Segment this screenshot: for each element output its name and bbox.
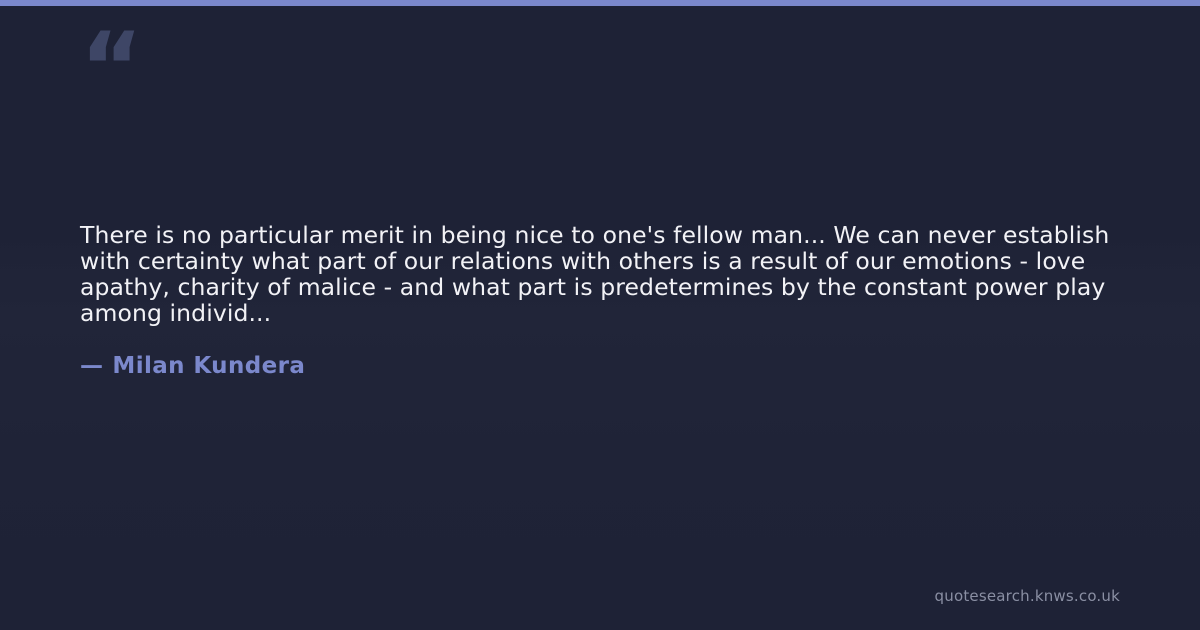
top-accent-bar xyxy=(0,0,1200,6)
author-name: Milan Kundera xyxy=(112,353,305,379)
quote-mark-icon: “ xyxy=(80,20,141,116)
quote-card: “ There is no particular merit in being … xyxy=(0,0,1200,630)
quote-text: There is no particular merit in being ni… xyxy=(80,222,1130,326)
author-dash: — xyxy=(80,353,103,379)
site-watermark: quotesearch.knws.co.uk xyxy=(935,587,1120,605)
quote-author: —Milan Kundera xyxy=(80,353,305,379)
